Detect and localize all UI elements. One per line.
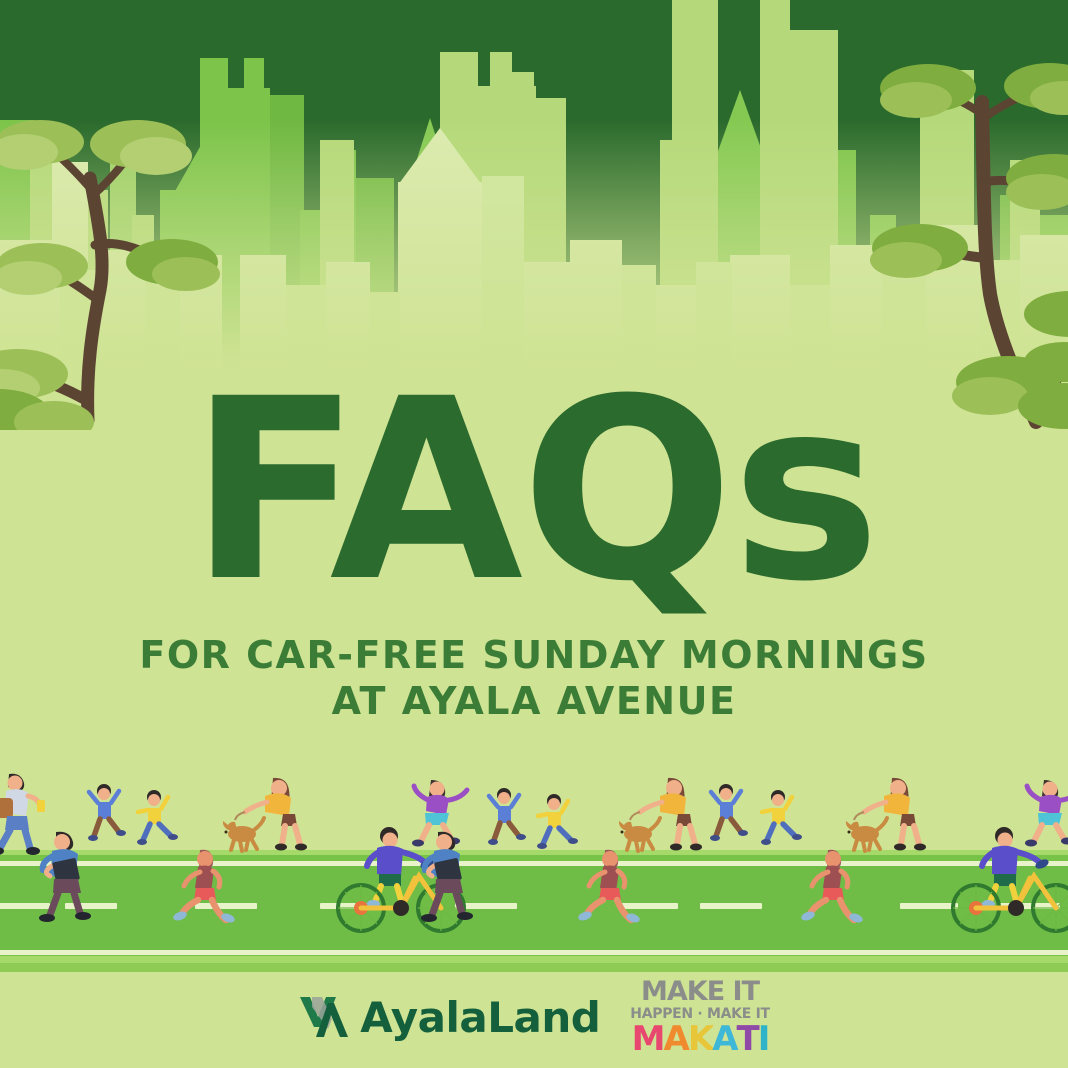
- title-block: FAQs FOR CAR-FREE SUNDAY MORNINGS AT AYA…: [0, 372, 1068, 724]
- figure-jumping-child-yellow-2: [537, 794, 578, 849]
- makati-letter: T: [737, 1022, 758, 1056]
- figure-walker-laptop-1: [39, 832, 91, 922]
- figure-jumping-child-blue-2: [488, 788, 526, 845]
- ayalaland-wordmark: AyalaLand: [360, 993, 600, 1042]
- ayalaland-logo[interactable]: AyalaLand: [298, 993, 600, 1042]
- figure-walker-backpack: [0, 774, 45, 855]
- page-subtitle: FOR CAR-FREE SUNDAY MORNINGS AT AYALA AV…: [0, 632, 1068, 725]
- makati-line-1: MAKE IT: [641, 978, 759, 1005]
- figure-runner-red-2: [577, 850, 641, 924]
- figure-dog-1: [223, 818, 264, 851]
- faq-poster: FAQs FOR CAR-FREE SUNDAY MORNINGS AT AYA…: [0, 0, 1068, 1068]
- street-scene: [0, 760, 1068, 990]
- subtitle-line-2: AT AYALA AVENUE: [0, 678, 1068, 724]
- makati-letter: I: [758, 1022, 769, 1056]
- makati-letter: K: [688, 1022, 712, 1056]
- makati-letter: A: [712, 1022, 736, 1056]
- page-title: FAQs: [0, 372, 1068, 610]
- makati-letter: A: [664, 1022, 688, 1056]
- figure-runner-red-3: [800, 850, 864, 924]
- figure-cyclist-2: [953, 827, 1068, 931]
- makati-letter: M: [632, 1022, 664, 1056]
- logo-bar: AyalaLand MAKE IT HAPPEN · MAKE IT MAKAT…: [0, 978, 1068, 1056]
- figure-jumping-child-yellow-1: [137, 790, 178, 845]
- people-svg: [0, 760, 1068, 990]
- ayalaland-chevron-mark-icon: [298, 993, 350, 1041]
- figure-dog-2: [619, 818, 660, 851]
- figure-jumping-child-blue-3: [710, 784, 748, 841]
- figure-jumping-woman-purple-2: [1025, 780, 1068, 847]
- make-it-happen-makati-logo[interactable]: MAKE IT HAPPEN · MAKE IT MAKATI: [630, 978, 769, 1056]
- makati-wordmark: MAKATI: [632, 1022, 769, 1056]
- figure-jumping-child-yellow-3: [761, 790, 802, 845]
- subtitle-line-1: FOR CAR-FREE SUNDAY MORNINGS: [0, 632, 1068, 678]
- figure-jumping-child-blue-1: [88, 784, 126, 841]
- figure-runner-red-1: [172, 850, 236, 924]
- figure-dog-3: [846, 818, 887, 851]
